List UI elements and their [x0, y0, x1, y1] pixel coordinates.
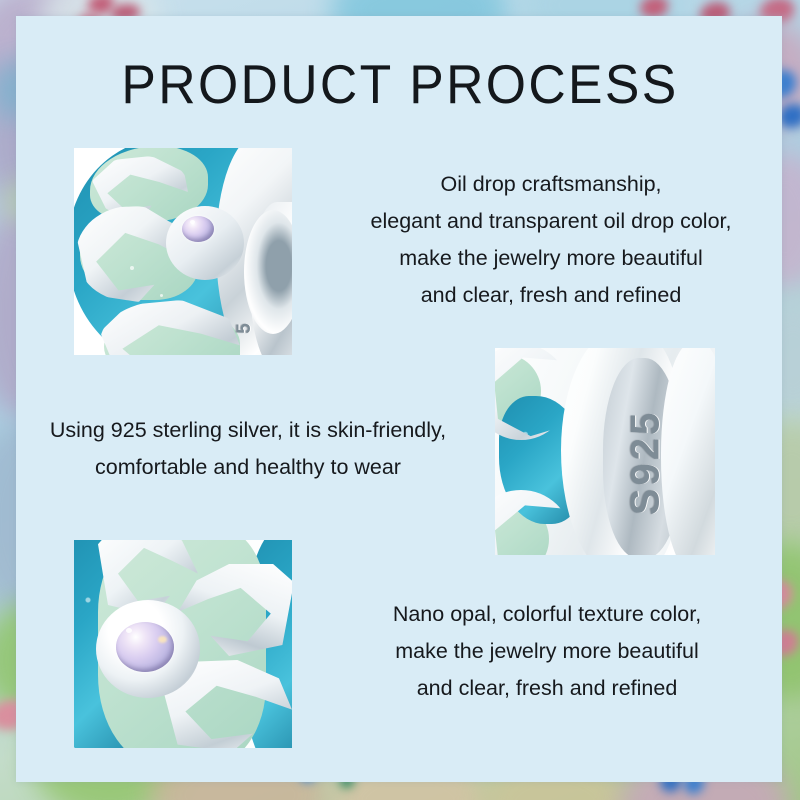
text-block-nano-opal: Nano opal, colorful texture color, make …	[348, 596, 746, 707]
text-line: Using 925 sterling silver, it is skin-fr…	[8, 412, 488, 449]
sparkle	[126, 628, 132, 633]
hallmark-partial: 5	[234, 320, 256, 334]
opal-stone	[182, 216, 214, 242]
sparkle	[130, 266, 134, 270]
text-line: Oil drop craftsmanship,	[318, 166, 784, 203]
photo-charm-bead-swirl-closeup: 5	[74, 148, 292, 355]
text-block-sterling-silver: Using 925 sterling silver, it is skin-fr…	[8, 412, 488, 486]
text-line: comfortable and healthy to wear	[8, 449, 488, 486]
product-process-infographic: PRODUCT PROCESS 5	[0, 0, 800, 800]
text-line: and clear, fresh and refined	[318, 277, 784, 314]
photo-artwork: 5	[74, 148, 292, 355]
opal-stone	[116, 622, 174, 672]
photo-s925-hallmark-closeup: S925	[495, 348, 715, 555]
sparkle	[160, 294, 163, 297]
sparkle	[190, 220, 195, 224]
text-block-oil-drop-craftsmanship: Oil drop craftsmanship, elegant and tran…	[318, 166, 784, 314]
photo-nano-opal-closeup	[74, 540, 292, 748]
text-line: and clear, fresh and refined	[348, 670, 746, 707]
photo-artwork	[74, 540, 292, 748]
text-line: elegant and transparent oil drop color,	[318, 203, 784, 240]
text-line: make the jewelry more beautiful	[348, 633, 746, 670]
photo-artwork: S925	[495, 348, 715, 555]
sparkle	[158, 636, 167, 643]
silver-rim	[661, 348, 715, 555]
text-line: Nano opal, colorful texture color,	[348, 596, 746, 633]
page-title: PRODUCT PROCESS	[24, 54, 776, 114]
text-line: make the jewelry more beautiful	[318, 240, 784, 277]
